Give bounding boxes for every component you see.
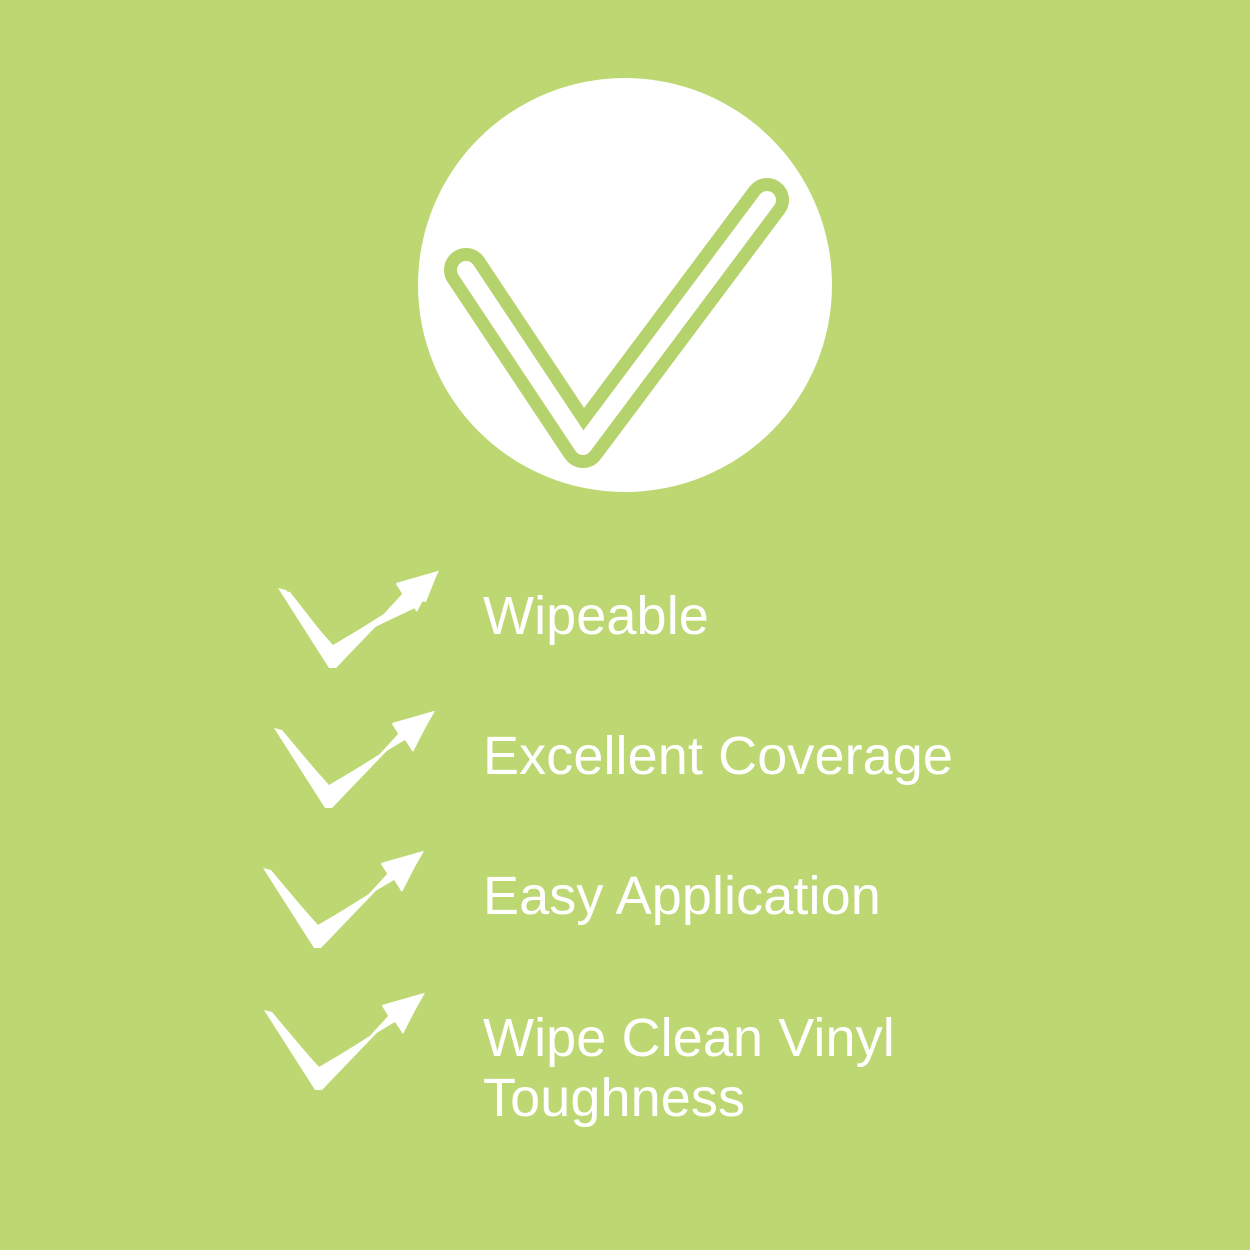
feature-label: Easy Application [483,866,881,926]
feature-list: Wipeable Excellent Coverage Easy Applica… [0,556,1250,1176]
check-arrow-icon [261,848,429,952]
check-arrow-icon [272,708,440,812]
check-arrow-icon [276,568,444,672]
feature-label: Excellent Coverage [483,726,953,786]
feature-poster: Wipeable Excellent Coverage Easy Applica… [0,0,1250,1250]
feature-label: Wipeable [483,586,709,646]
check-arrow-icon [262,990,430,1094]
check-circle-icon [418,78,832,492]
feature-label: Wipe Clean Vinyl Toughness [483,1008,895,1128]
